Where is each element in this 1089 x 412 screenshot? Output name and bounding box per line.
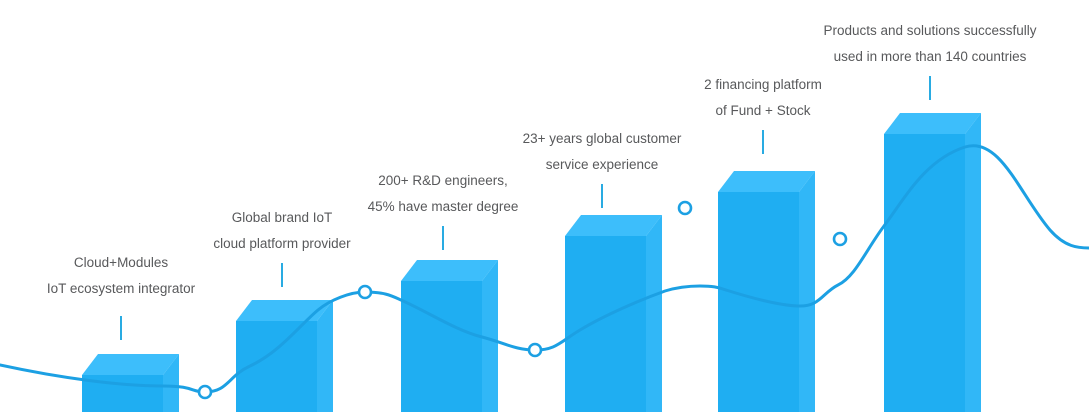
milestone-infographic: Cloud+ModulesIoT ecosystem integratorGlo… [0,0,1089,412]
marker-5[interactable] [834,233,846,245]
milestone-label-4-line-1: 23+ years global customer [58,126,1089,152]
milestone-label-1-line-2: IoT ecosystem integrator [0,276,666,302]
marker-3[interactable] [529,344,541,356]
milestone-label-6: Products and solutions successfullyused … [386,18,1089,70]
milestone-label-3-line-2: 45% have master degree [0,194,988,220]
milestone-label-4-line-2: service experience [58,152,1089,178]
marker-1[interactable] [199,386,211,398]
milestone-label-6-line-1: Products and solutions successfully [386,18,1089,44]
milestone-label-1: Cloud+ModulesIoT ecosystem integrator [0,250,666,302]
milestone-label-2-line-2: cloud platform provider [0,231,827,257]
bar-2[interactable] [236,300,333,412]
bar-top-face-1 [82,354,179,375]
milestone-label-5: 2 financing platformof Fund + Stock [219,72,1089,124]
milestone-label-5-line-1: 2 financing platform [219,72,1089,98]
milestone-label-5-line-2: of Fund + Stock [219,98,1089,124]
milestone-label-6-line-2: used in more than 140 countries [386,44,1089,70]
milestone-label-4: 23+ years global customerservice experie… [58,126,1089,178]
